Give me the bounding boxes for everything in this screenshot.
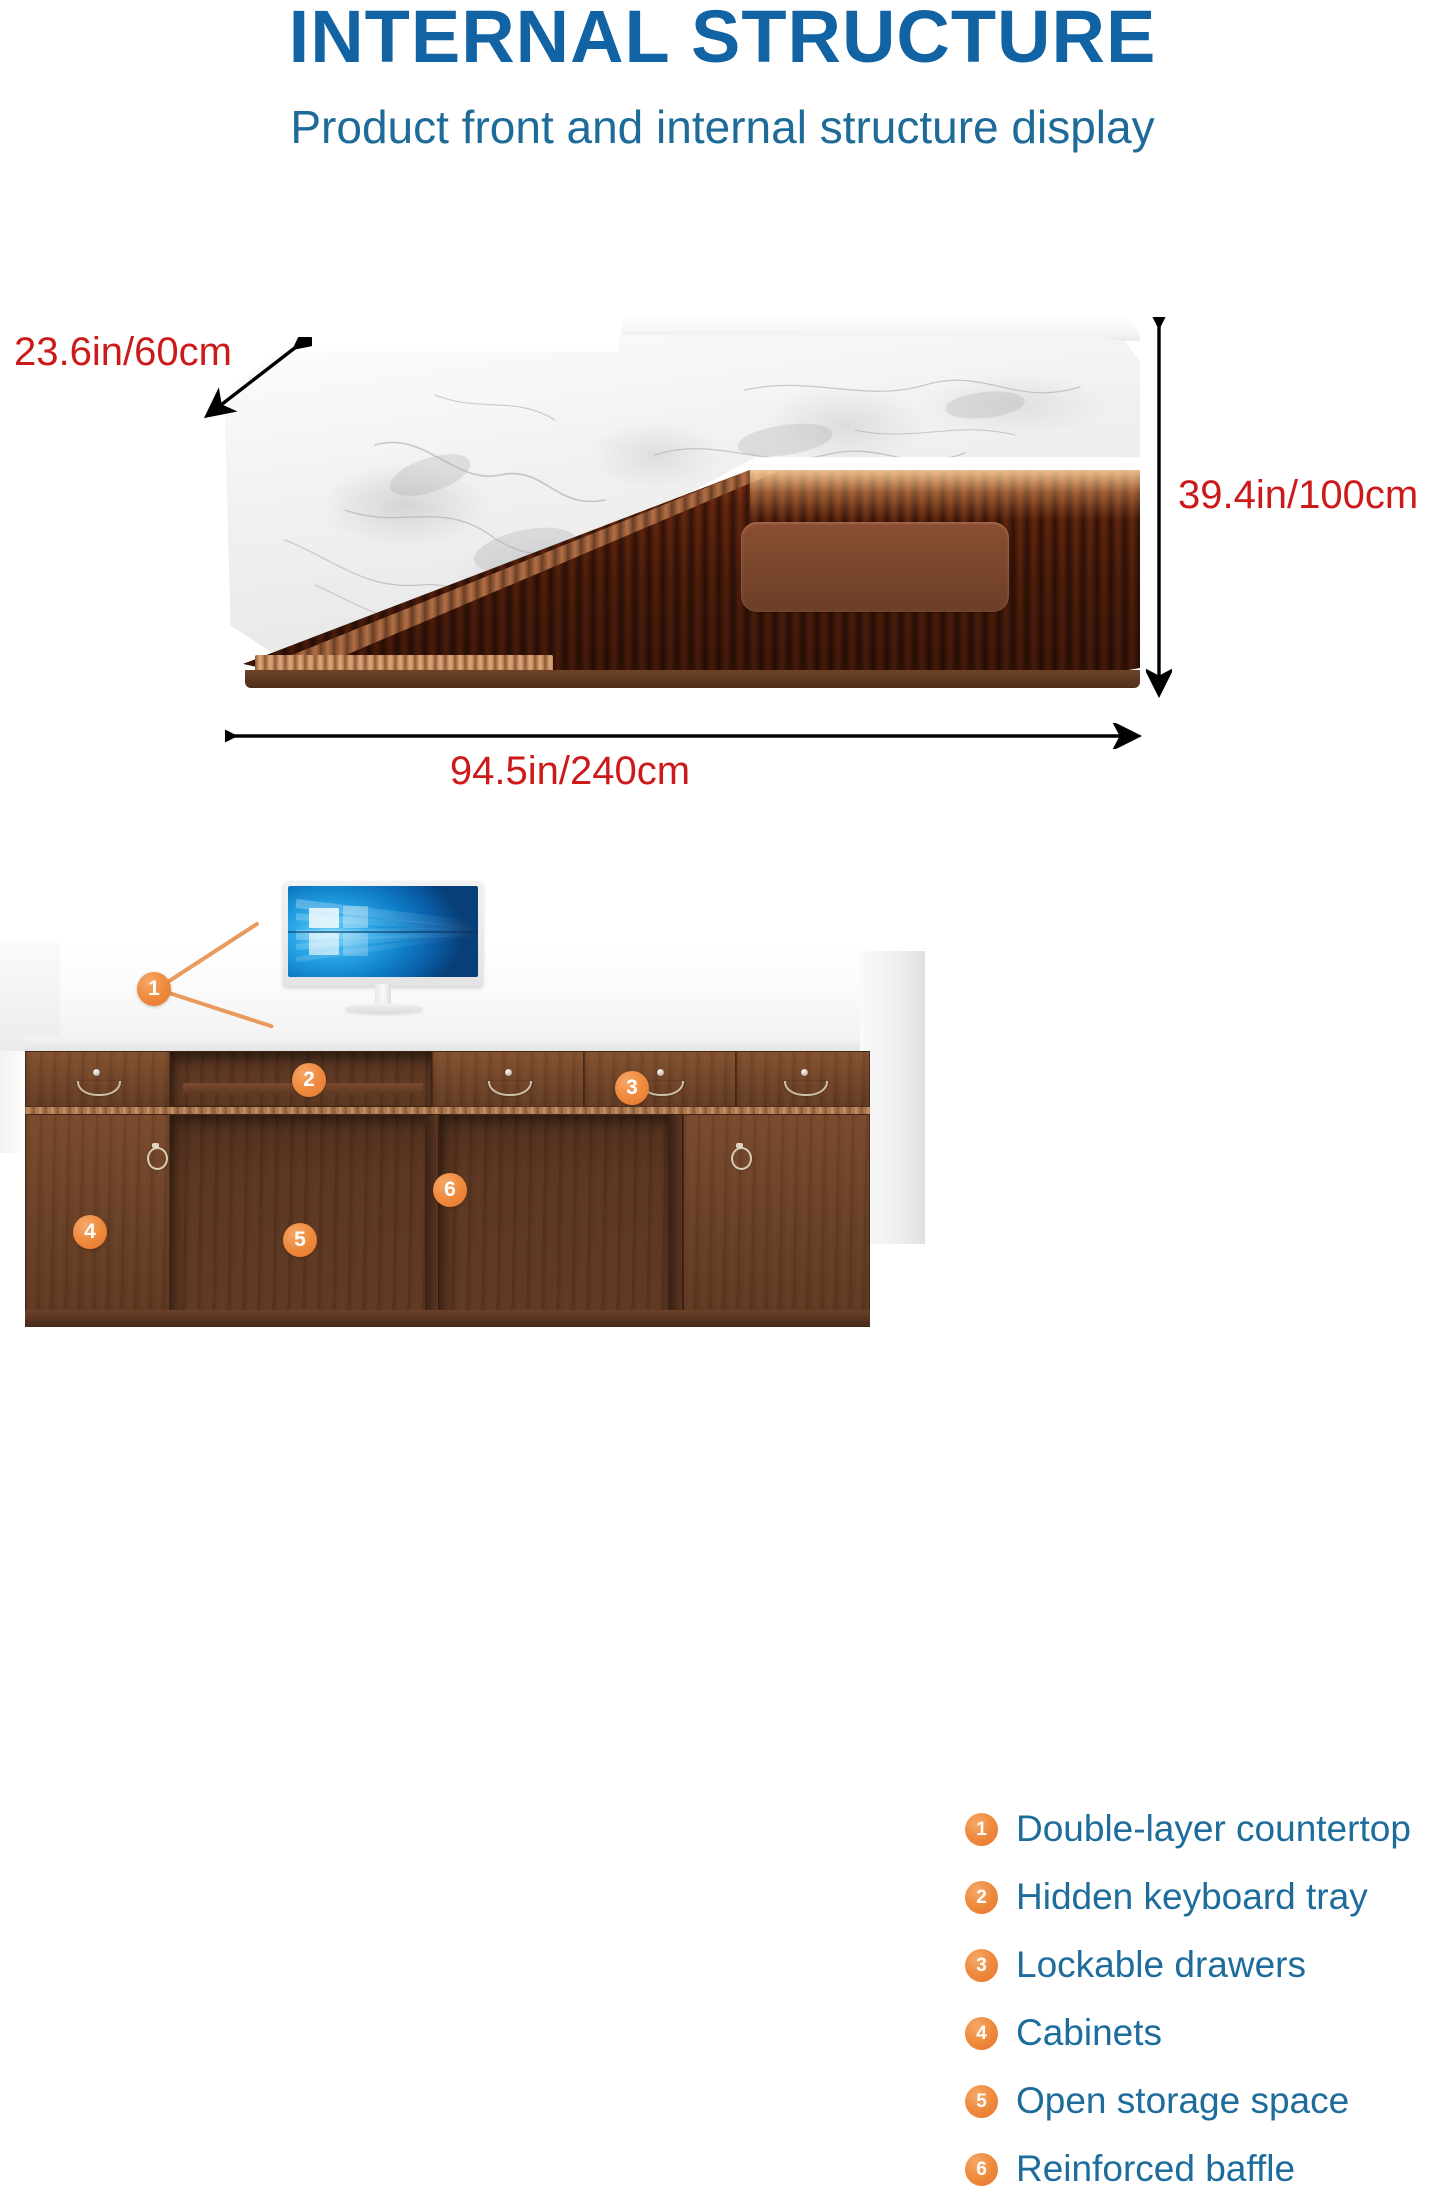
legend-badge-1: 1	[965, 1813, 998, 1846]
callout-3: 3	[615, 1071, 649, 1105]
cabinet-right-ring-mount	[736, 1143, 743, 1148]
callout-1: 1	[137, 972, 171, 1006]
countertop-front-edge	[25, 1037, 925, 1051]
callout-6: 6	[433, 1173, 467, 1207]
legend-label-3: Lockable drawers	[1016, 1944, 1306, 1986]
legend-label-2: Hidden keyboard tray	[1016, 1876, 1368, 1918]
desk-base-plinth	[245, 670, 1140, 688]
reinforced-baffle-right	[669, 1114, 683, 1326]
front-view-section: 23.6in/60cm 39.4in/100cm 94.5in/240cm	[0, 185, 1445, 830]
carcass-toe-kick	[25, 1310, 870, 1327]
legend-label-1: Double-layer countertop	[1016, 1808, 1411, 1850]
open-storage-left	[170, 1114, 432, 1326]
cabinet-left-ring-mount	[152, 1143, 159, 1148]
legend-label-5: Open storage space	[1016, 2080, 1349, 2122]
reception-desk-internal-view: 1 2 3 4 5 6	[0, 855, 930, 1342]
legend-badge-4: 4	[965, 2017, 998, 2050]
depth-dimension-arrow	[192, 337, 312, 425]
callout-5: 5	[283, 1223, 317, 1257]
internal-structure-section: 1 2 3 4 5 6 1 Double-layer countertop 2 …	[0, 855, 1445, 1342]
width-dimension-arrow	[225, 723, 1145, 749]
drawer-right	[736, 1051, 870, 1107]
cabinet-right-ring-pull	[731, 1147, 752, 1170]
height-dimension-label: 39.4in/100cm	[1178, 473, 1418, 518]
page-header: INTERNAL STRUCTURE Product front and int…	[0, 0, 1445, 185]
drawer-left-lock	[93, 1069, 100, 1076]
cabinet-left-ring-pull	[147, 1147, 168, 1170]
drawer-left	[25, 1051, 170, 1107]
legend-label-4: Cabinets	[1016, 2012, 1162, 2054]
monitor-stand-foot	[345, 1003, 423, 1013]
monitor-screen	[288, 886, 478, 977]
callout-2: 2	[292, 1063, 326, 1097]
drawer-center-left	[432, 1051, 584, 1107]
callout-4: 4	[73, 1215, 107, 1249]
legend-badge-5: 5	[965, 2085, 998, 2118]
legend-item-cabinets: 4 Cabinets	[965, 1999, 1445, 2067]
reception-desk-front-view	[225, 315, 1140, 690]
legend-badge-2: 2	[965, 1881, 998, 1914]
legend-item-reinforced-baffle: 6 Reinforced baffle	[965, 2135, 1445, 2203]
desktop-monitor	[283, 881, 483, 1016]
legend-badge-6: 6	[965, 2153, 998, 2186]
legend-item-open-storage-space: 5 Open storage space	[965, 2067, 1445, 2135]
open-storage-center	[439, 1114, 669, 1326]
legend-item-hidden-keyboard-tray: 2 Hidden keyboard tray	[965, 1863, 1445, 1931]
banding-strip	[25, 1107, 870, 1114]
drawer-center-right	[584, 1051, 736, 1107]
height-dimension-arrow	[1146, 317, 1172, 701]
monitor-bezel	[283, 881, 483, 986]
width-dimension-label: 94.5in/240cm	[0, 749, 1140, 794]
page-title: INTERNAL STRUCTURE	[0, 0, 1445, 79]
cabinet-right-door	[683, 1114, 870, 1326]
page-subtitle: Product front and internal structure dis…	[0, 100, 1445, 154]
legend-badge-3: 3	[965, 1949, 998, 1982]
legend-item-double-layer-countertop: 1 Double-layer countertop	[965, 1795, 1445, 1863]
countertop-back-lip	[0, 943, 60, 1051]
legend-label-6: Reinforced baffle	[1016, 2148, 1295, 2190]
front-inset-panel	[741, 522, 1009, 612]
legend-item-lockable-drawers: 3 Lockable drawers	[965, 1931, 1445, 1999]
drawer-right-lock	[801, 1069, 808, 1076]
legend-list: 1 Double-layer countertop 2 Hidden keybo…	[965, 1795, 1445, 2203]
drawer-center-left-lock	[505, 1069, 512, 1076]
reinforced-baffle-left	[425, 1114, 439, 1326]
drawer-center-right-lock	[657, 1069, 664, 1076]
